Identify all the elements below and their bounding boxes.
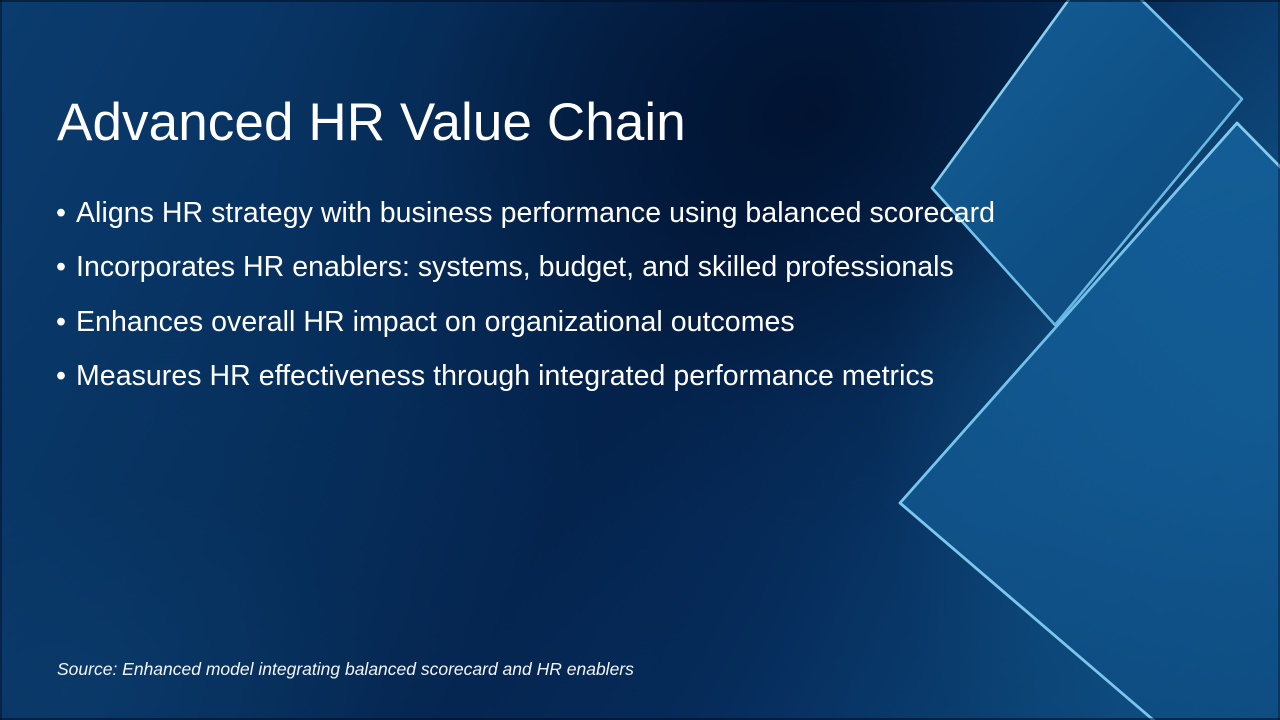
- source-note: Source: Enhanced model integrating balan…: [57, 657, 634, 681]
- bullet-item: •Aligns HR strategy with business perfor…: [56, 186, 1176, 240]
- bullet-text: Measures HR effectiveness through integr…: [76, 360, 934, 392]
- bullet-item: •Measures HR effectiveness through integ…: [56, 349, 1176, 403]
- bullet-text: Aligns HR strategy with business perform…: [76, 197, 995, 229]
- bullet-marker-icon: •: [56, 186, 76, 240]
- bullet-item: •Enhances overall HR impact on organizat…: [56, 295, 1176, 349]
- slide-title: Advanced HR Value Chain: [57, 92, 957, 154]
- bullet-list: •Aligns HR strategy with business perfor…: [56, 186, 1176, 403]
- bullet-text: Enhances overall HR impact on organizati…: [76, 306, 795, 338]
- bullet-marker-icon: •: [56, 295, 76, 349]
- bullet-item: •Incorporates HR enablers: systems, budg…: [56, 240, 1176, 294]
- bullet-marker-icon: •: [56, 349, 76, 403]
- slide-content: Advanced HR Value Chain •Aligns HR strat…: [0, 0, 1280, 720]
- presentation-slide: Advanced HR Value Chain •Aligns HR strat…: [0, 0, 1280, 720]
- bullet-marker-icon: •: [56, 240, 76, 294]
- bullet-text: Incorporates HR enablers: systems, budge…: [76, 251, 954, 283]
